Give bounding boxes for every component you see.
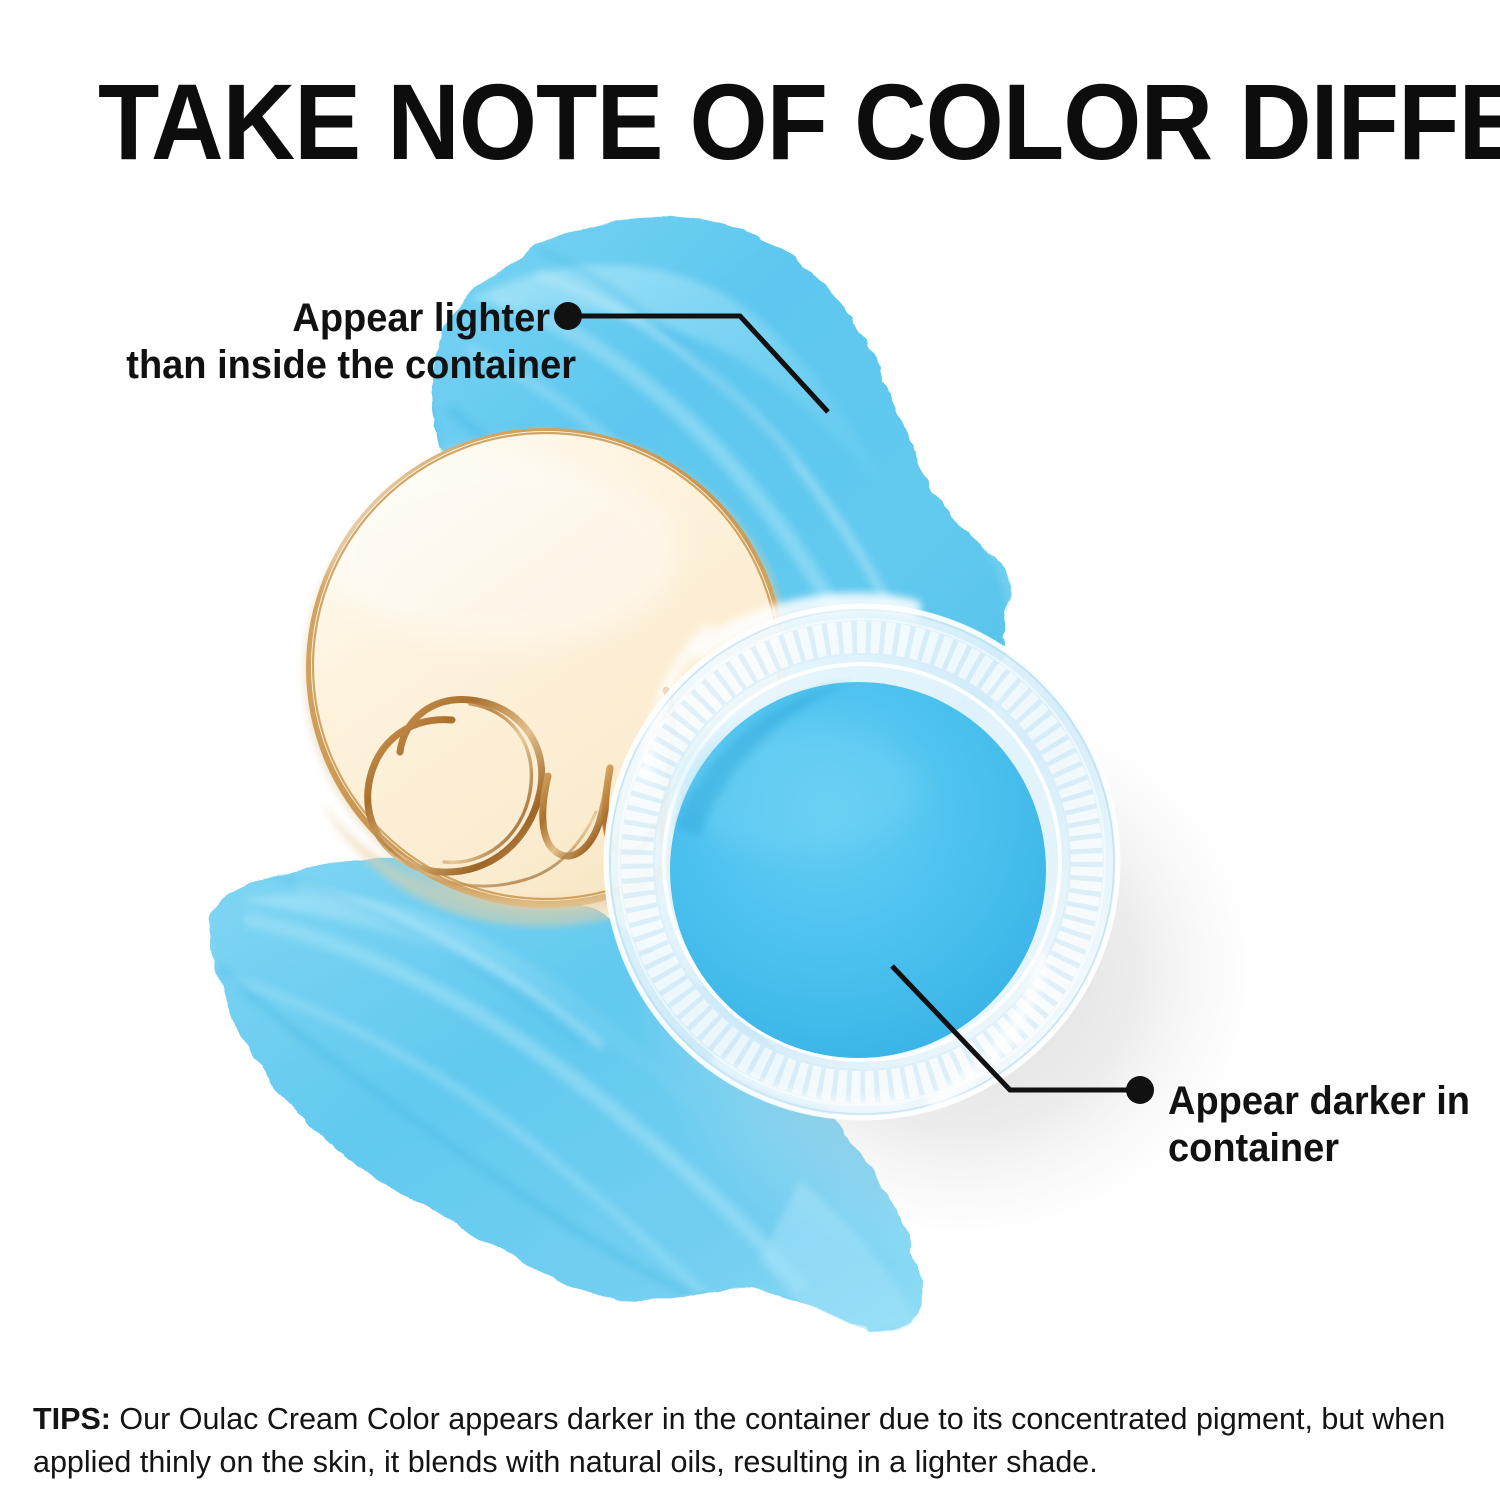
leader-dot-upper [554,302,582,330]
tips-paragraph: TIPS: Our Oulac Cream Color appears dark… [33,1398,1453,1485]
callout-appear-lighter: Appear lighter than inside the container [126,295,550,389]
poster-canvas: TAKE NOTE OF COLOR DIFFERENCES... [0,0,1500,1500]
cream-jar [604,602,1120,1120]
page-title: TAKE NOTE OF COLOR DIFFERENCES... [98,68,1344,176]
callout-appear-darker: Appear darker in container [1168,1078,1470,1172]
callout-darker-line2: container [1168,1125,1470,1172]
callout-lighter-line2: than inside the container [126,342,550,389]
callout-darker-line1: Appear darker in [1168,1078,1470,1125]
leader-dot-lower [1126,1076,1154,1104]
tips-body: Our Oulac Cream Color appears darker in … [33,1402,1445,1479]
tips-label: TIPS: [33,1402,111,1436]
callout-lighter-line1: Appear lighter [126,295,550,342]
